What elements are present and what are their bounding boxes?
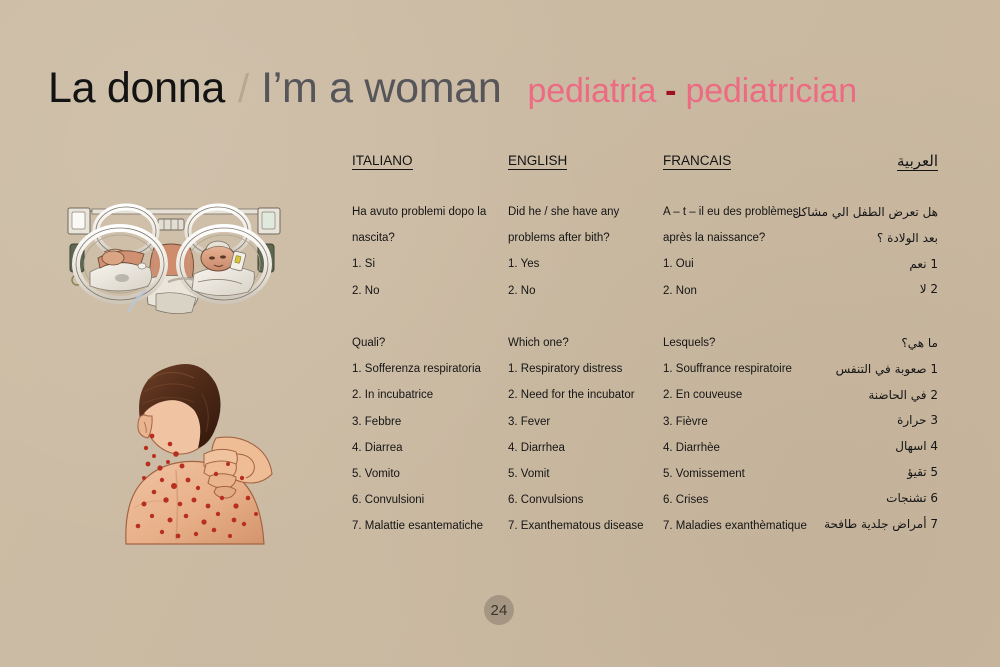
phrase-line: 2. No — [352, 285, 502, 311]
phrase-line: بعد الولادة ؟ — [773, 232, 938, 258]
phrase-line: 4. Diarrhea — [508, 442, 658, 468]
phrase-line: 5 تقيؤ — [773, 466, 938, 492]
phrase-line: 7. Malattie esantematiche — [352, 520, 502, 546]
block-one-arabic: هل تعرض الطفل الي مشاكل بعد الولادة ؟ 1 … — [773, 206, 938, 309]
block-one-italiano: Ha avuto problemi dopo la nascita? 1. Si… — [352, 206, 502, 311]
block-two-arabic: ما هي؟ 1 صعوبة في التنفس 2 في الحاضنة 3 … — [773, 337, 938, 543]
phrase-line: 6. Convulsions — [508, 494, 658, 520]
phrase-line: 5. Vomito — [352, 468, 502, 494]
phrase-line: Did he / she have any — [508, 206, 658, 232]
phrase-line: 2 في الحاضنة — [773, 389, 938, 415]
phrase-line: 2. No — [508, 285, 658, 311]
phrasebook-grid: Ha avuto problemi dopo la nascita? 1. Si… — [0, 0, 1000, 667]
phrase-line: 1 صعوبة في التنفس — [773, 363, 938, 389]
phrase-line: Ha avuto problemi dopo la — [352, 206, 502, 232]
phrase-line: problems after bith? — [508, 232, 658, 258]
phrase-line: nascita? — [352, 232, 502, 258]
phrase-line: 1 نعم — [773, 258, 938, 284]
phrase-line: 2. Need for the incubator — [508, 389, 658, 415]
phrase-line: 1. Sofferenza respiratoria — [352, 363, 502, 389]
phrase-line: 4. Diarrea — [352, 442, 502, 468]
phrase-line: 1. Respiratory distress — [508, 363, 658, 389]
phrase-line: 2. In incubatrice — [352, 389, 502, 415]
phrase-line: 6 تشنجات — [773, 492, 938, 518]
phrase-line: 7 أمراض جلدية طافحة — [773, 518, 938, 544]
phrase-line: Which one? — [508, 337, 658, 363]
phrase-line: 7. Exanthematous disease — [508, 520, 658, 546]
phrase-line: ما هي؟ — [773, 337, 938, 363]
phrase-line: 2 لا — [773, 283, 938, 309]
phrase-line: 5. Vomit — [508, 468, 658, 494]
phrase-line: 3. Fever — [508, 416, 658, 442]
phrase-line: 3 حرارة — [773, 414, 938, 440]
block-one-english: Did he / she have any problems after bit… — [508, 206, 658, 311]
phrase-line: 1. Yes — [508, 258, 658, 284]
phrase-line: 4 اسهال — [773, 440, 938, 466]
phrase-line: 1. Si — [352, 258, 502, 284]
phrase-line: 3. Febbre — [352, 416, 502, 442]
page-number-badge: 24 — [484, 595, 514, 625]
phrase-line: 6. Convulsioni — [352, 494, 502, 520]
block-two-english: Which one? 1. Respiratory distress 2. Ne… — [508, 337, 658, 547]
phrase-line: Quali? — [352, 337, 502, 363]
phrase-line: هل تعرض الطفل الي مشاكل — [773, 206, 938, 232]
block-two-italiano: Quali? 1. Sofferenza respiratoria 2. In … — [352, 337, 502, 547]
